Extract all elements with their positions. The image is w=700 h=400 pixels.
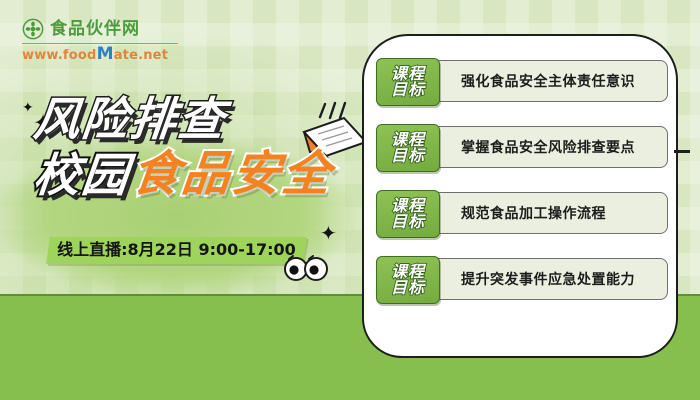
cartoon-eyes-icon	[282, 255, 330, 281]
panel-notch	[674, 150, 690, 153]
headline-line-1: 风险排查	[32, 96, 367, 142]
broadcast-banner: 线上直播:8月22日 9:00-17:00	[46, 237, 306, 264]
logo-url-m: M	[97, 44, 114, 64]
headline-line-2-orange: 食品安全	[129, 150, 334, 198]
site-logo-url[interactable]: www.foodMate.net	[22, 46, 182, 63]
goal-box: 掌握食品安全风险排查要点	[426, 126, 668, 168]
goal-text: 提升突发事件应急处置能力	[461, 269, 635, 289]
goal-box: 规范食品加工操作流程	[426, 192, 668, 234]
goal-item[interactable]: 课程 目标 规范食品加工操作流程	[376, 190, 668, 236]
goal-text: 掌握食品安全风险排查要点	[461, 137, 635, 157]
headline-line-2: 校园 食品安全	[31, 150, 366, 198]
poster-canvas: 食品伙伴网 www.foodMate.net ✦ ✦ ✦	[0, 0, 700, 400]
flower-asterisk-icon	[22, 18, 44, 40]
site-logo[interactable]: 食品伙伴网 www.foodMate.net	[22, 18, 182, 63]
sparkle-icon-right: ✦	[320, 224, 337, 244]
goal-badge-bottom: 目标	[391, 280, 425, 296]
goal-badge: 课程 目标	[376, 124, 440, 172]
logo-url-prefix: www.food	[22, 48, 97, 63]
goal-item[interactable]: 课程 目标 掌握食品安全风险排查要点	[376, 124, 668, 170]
headline: 风险排查 校园 食品安全	[34, 96, 364, 198]
goal-text: 规范食品加工操作流程	[461, 203, 606, 223]
headline-line-2-white: 校园	[31, 152, 132, 198]
sparkle-icon-small-left: ✦	[22, 100, 34, 114]
goal-box: 提升突发事件应急处置能力	[426, 258, 668, 300]
goal-item[interactable]: 课程 目标 强化食品安全主体责任意识	[376, 58, 668, 104]
broadcast-text: 线上直播:8月22日 9:00-17:00	[57, 241, 296, 259]
goal-badge: 课程 目标	[376, 190, 440, 238]
goal-badge-bottom: 目标	[391, 148, 425, 164]
goal-badge: 课程 目标	[376, 58, 440, 106]
course-goals-list: 课程 目标 强化食品安全主体责任意识 课程 目标 掌握食品安全风险排查要点 课程…	[376, 58, 668, 302]
logo-url-suffix: ate.net	[114, 48, 168, 63]
goal-badge-bottom: 目标	[391, 214, 425, 230]
goal-item[interactable]: 课程 目标 提升突发事件应急处置能力	[376, 256, 668, 302]
goal-text: 强化食品安全主体责任意识	[461, 71, 635, 91]
goal-box: 强化食品安全主体责任意识	[426, 60, 668, 102]
goal-badge-bottom: 目标	[391, 82, 425, 98]
site-logo-name: 食品伙伴网	[50, 21, 140, 38]
goal-badge: 课程 目标	[376, 256, 440, 304]
